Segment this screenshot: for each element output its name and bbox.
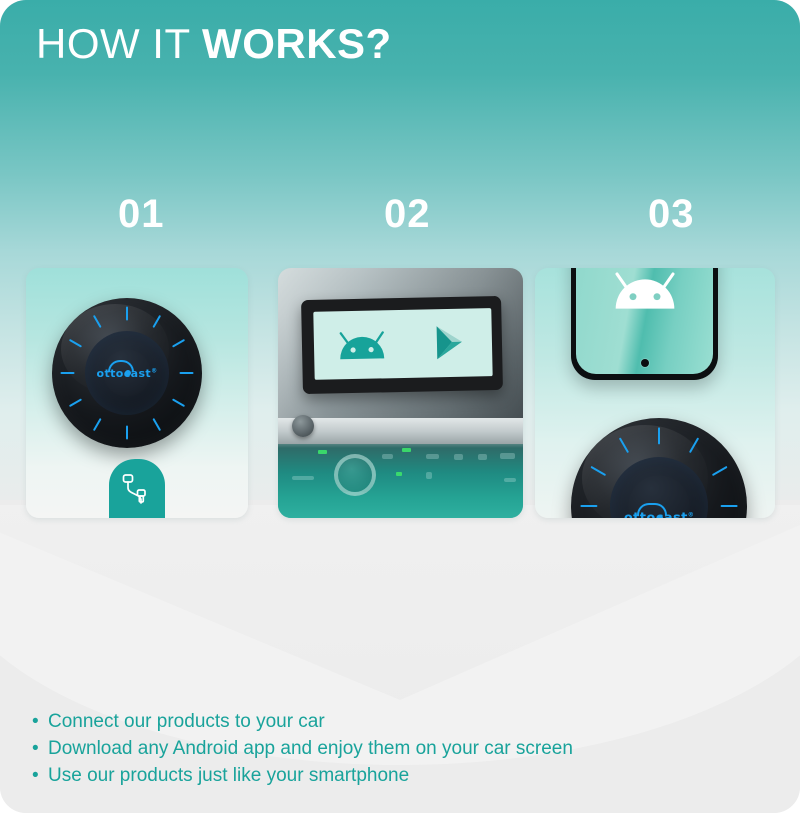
tick-mark [581,505,598,507]
tick-mark [69,398,82,407]
bullet-dot-icon: • [32,708,48,735]
page-title: HOW IT WORKS? [36,18,392,71]
logo-registered-mark: ® [688,512,694,518]
google-play-icon [429,322,472,365]
step-3-card[interactable]: ottocast® [535,268,775,518]
console-control [500,453,515,459]
page-title-light: HOW IT [36,20,202,67]
step-number-01: 01 [118,186,165,242]
bullet-dot-icon: • [32,735,48,762]
console-control [426,472,432,479]
tick-mark [658,428,660,445]
list-item: •Download any Android app and enjoy them… [32,735,573,762]
phone-camera-icon [641,359,649,367]
tick-mark [712,466,727,476]
logo-registered-mark: ® [151,367,157,374]
ottocast-logo: ottocast® [571,511,747,518]
console-led [396,472,402,476]
step-card-row: ottocast® [0,268,800,518]
android-robot-icon [609,268,681,314]
bullet-text: Connect our products to your car [48,711,325,732]
tick-mark [93,418,102,431]
head-unit-display [313,308,492,380]
list-item: •Connect our products to your car [32,708,573,735]
ottocast-device-icon: ottocast® [52,298,202,448]
tick-mark [172,339,185,348]
step-1-card[interactable]: ottocast® [26,268,248,518]
feature-bullet-list: •Connect our products to your car •Downl… [32,708,573,789]
console-trim-strip [278,418,523,444]
logo-arc-icon [637,503,667,515]
console-control [426,454,439,459]
dashboard-knob-icon [292,415,314,437]
smartphone-icon [571,268,718,380]
tick-mark [172,398,185,407]
console-dial-icon [334,454,376,496]
step-number-02: 02 [384,186,431,242]
list-item: •Use our products just like your smartph… [32,762,573,789]
ottocast-logo: ottocast® [52,367,202,380]
usb-badge [109,459,165,518]
tick-mark [126,426,128,440]
console-control [454,454,463,460]
tick-mark [721,505,738,507]
console-control [478,454,487,460]
ottocast-device-icon: ottocast® [571,418,747,518]
bullet-text: Use our products just like your smartpho… [48,765,409,786]
android-robot-icon [334,326,389,363]
usb-cable-icon [120,472,154,506]
console-control [292,476,314,480]
console-led [318,450,327,454]
tick-mark [152,418,161,431]
console-led [402,448,411,452]
tick-mark [126,306,128,320]
logo-dot-icon [657,515,663,518]
how-it-works-panel: HOW IT WORKS? 01 02 03 ottocast® [0,0,800,813]
logo-dot-icon [125,370,131,376]
bullet-text: Download any Android app and enjoy them … [48,738,573,759]
console-control [382,454,393,459]
console-control [504,478,516,482]
bullet-dot-icon: • [32,762,48,789]
step-number-row: 01 02 03 [0,186,800,242]
page-title-bold: WORKS? [202,20,392,67]
step-number-03: 03 [648,186,695,242]
car-head-unit-screen[interactable] [301,296,503,394]
step-2-card[interactable] [278,268,523,518]
